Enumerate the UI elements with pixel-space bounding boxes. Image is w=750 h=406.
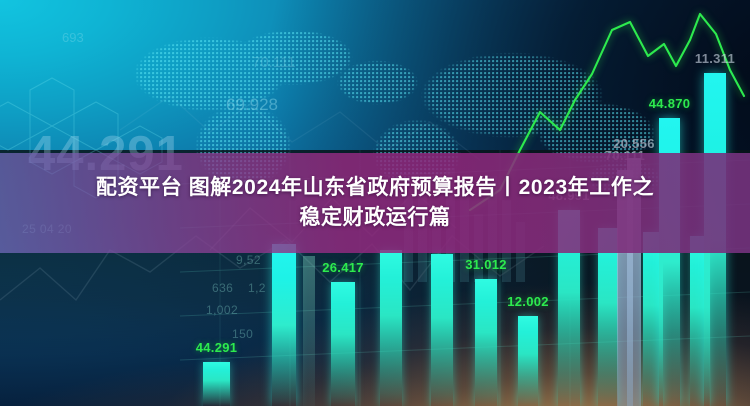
watermark-mini-number: 1,002 [206,303,238,317]
watermark-mini-number: 636 [212,281,233,295]
page-title-line-1: 配资平台 图解2024年山东省政府预算报告丨2023年工作之 [96,173,654,203]
watermark-mini-number: 1,2 [248,281,266,295]
watermark-mini-number: 150 [232,327,253,341]
watermark-mini-number: 9,52 [236,253,261,267]
banner-image: 44.29126.41731.01212.00248.99170.11120.5… [0,0,750,406]
page-title-line-2: 稳定财政运行篇 [299,203,450,233]
title-banner-band: 配资平台 图解2024年山东省政府预算报告丨2023年工作之 稳定财政运行篇 [0,153,750,253]
